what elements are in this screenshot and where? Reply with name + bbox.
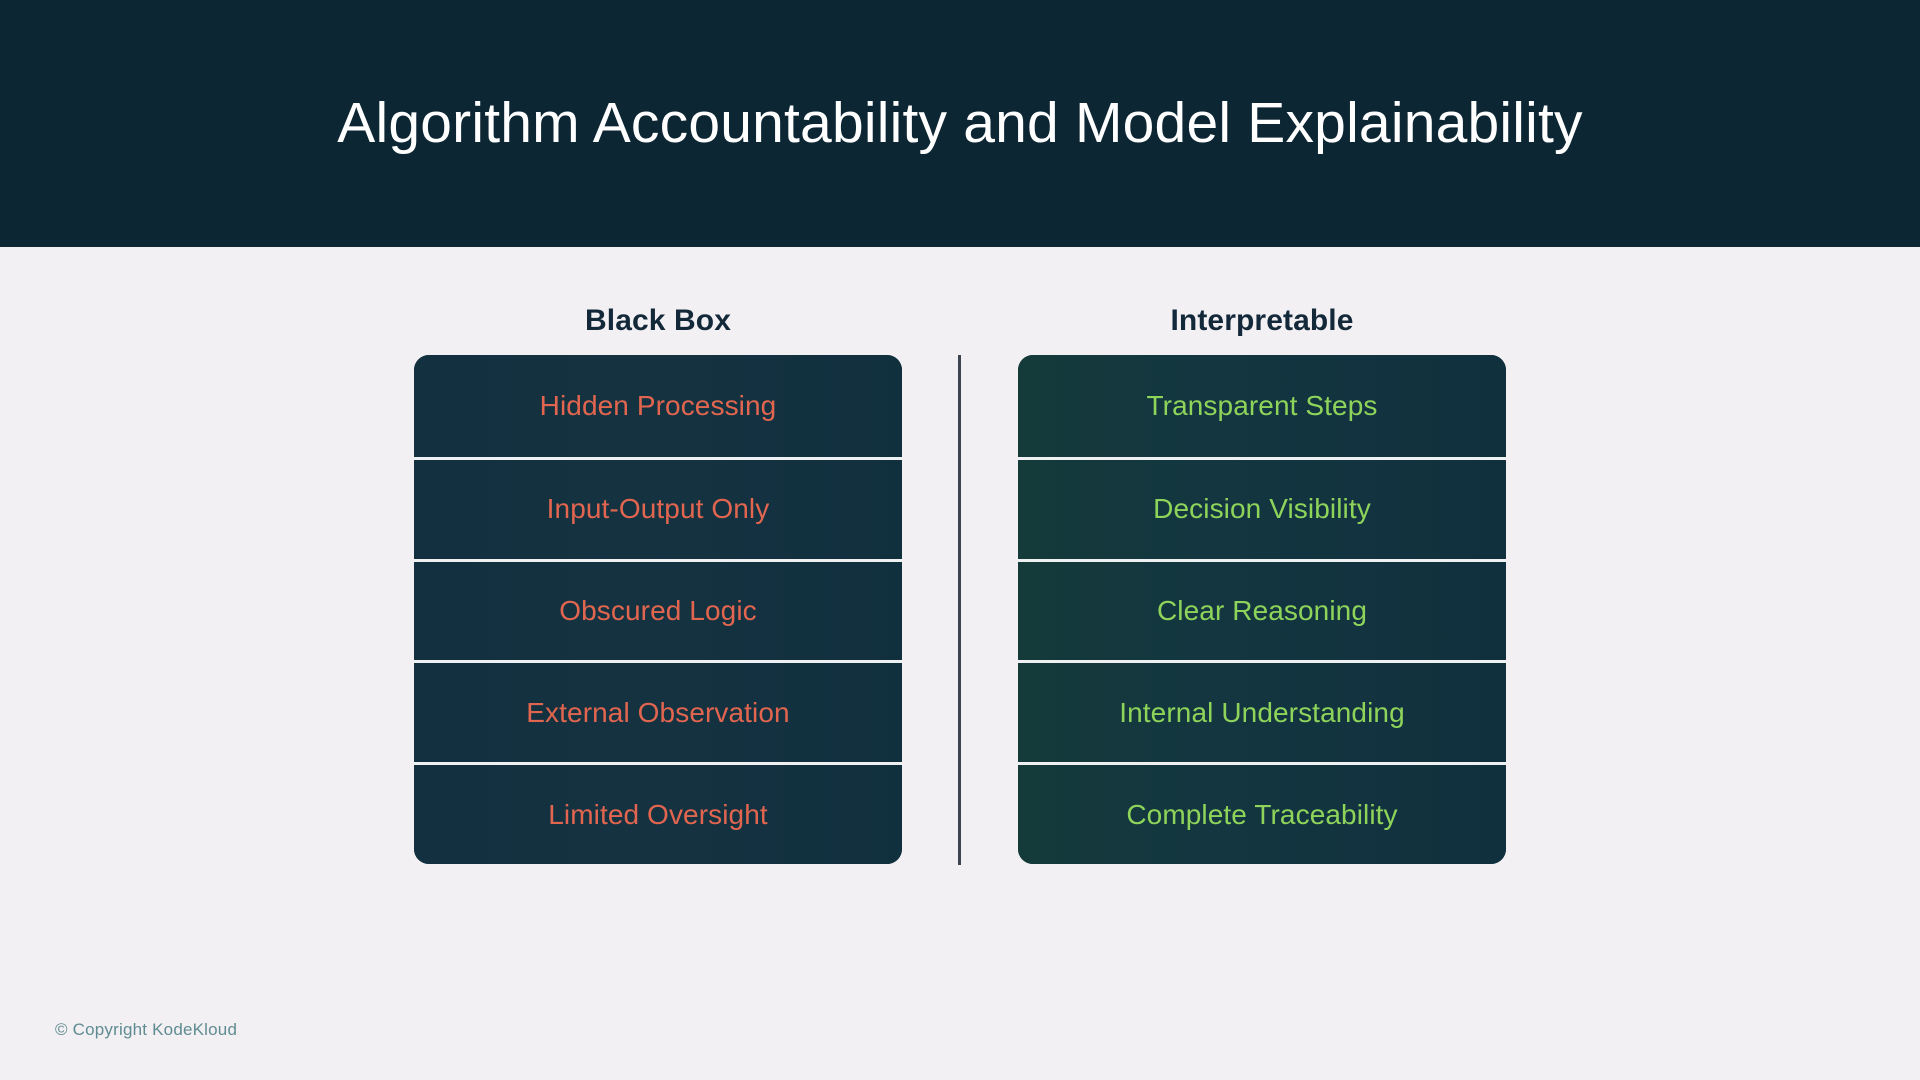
list-item[interactable]: Complete Traceability	[1018, 762, 1506, 864]
column-card-interpretable: Transparent Steps Decision Visibility Cl…	[1018, 355, 1506, 864]
list-item-label: Obscured Logic	[559, 595, 757, 627]
list-item-label: Decision Visibility	[1153, 493, 1371, 525]
list-item[interactable]: Limited Oversight	[414, 762, 902, 864]
list-item[interactable]: Transparent Steps	[1018, 355, 1506, 457]
list-item[interactable]: Internal Understanding	[1018, 660, 1506, 762]
comparison-board: Black Box Interpretable Hidden Processin…	[0, 247, 1920, 1080]
page-title: Algorithm Accountability and Model Expla…	[337, 92, 1582, 155]
list-item-label: External Observation	[526, 697, 789, 729]
list-item-label: Limited Oversight	[548, 799, 768, 831]
list-item[interactable]: Clear Reasoning	[1018, 559, 1506, 661]
list-item-label: Clear Reasoning	[1157, 595, 1367, 627]
column-card-black-box: Hidden Processing Input-Output Only Obsc…	[414, 355, 902, 864]
list-item[interactable]: Input-Output Only	[414, 457, 902, 559]
list-item-label: Input-Output Only	[547, 493, 770, 525]
list-item[interactable]: Decision Visibility	[1018, 457, 1506, 559]
slide-header-band: Algorithm Accountability and Model Expla…	[0, 0, 1920, 247]
column-heading-black-box: Black Box	[414, 304, 902, 338]
column-heading-interpretable: Interpretable	[1018, 304, 1506, 338]
column-divider	[958, 355, 961, 865]
copyright-notice: © Copyright KodeKloud	[55, 1020, 237, 1040]
list-item[interactable]: Obscured Logic	[414, 559, 902, 661]
list-item-label: Internal Understanding	[1119, 697, 1405, 729]
list-item[interactable]: Hidden Processing	[414, 355, 902, 457]
list-item-label: Transparent Steps	[1146, 390, 1377, 422]
list-item[interactable]: External Observation	[414, 660, 902, 762]
list-item-label: Complete Traceability	[1126, 799, 1397, 831]
list-item-label: Hidden Processing	[540, 390, 777, 422]
